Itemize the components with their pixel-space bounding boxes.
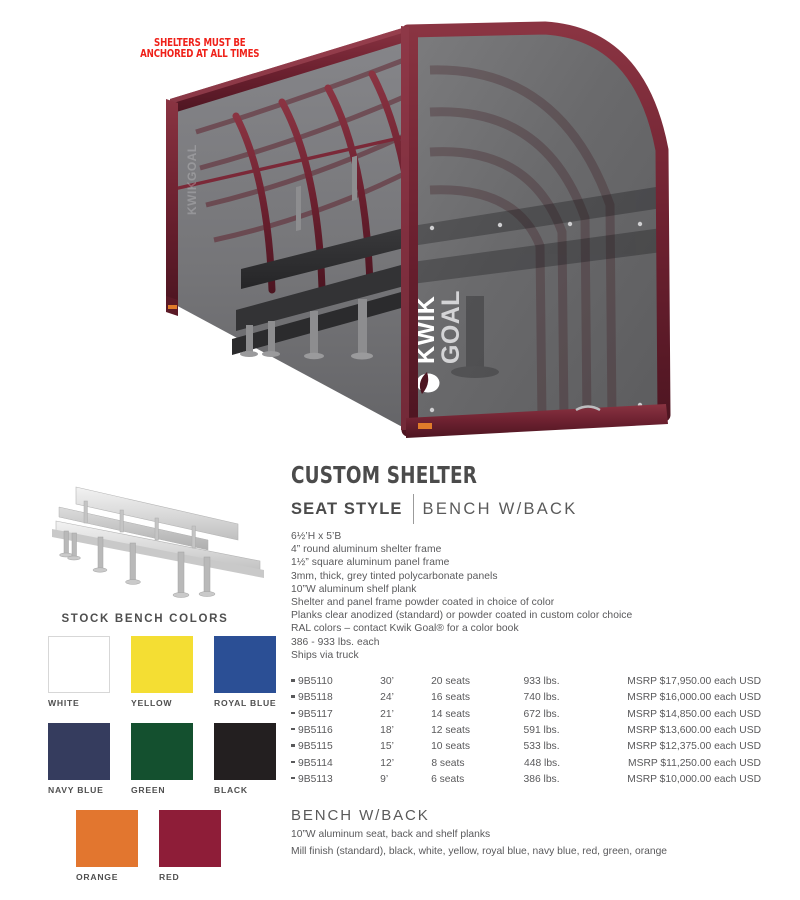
- spec-line: Ships via truck: [291, 649, 761, 662]
- cell-price: MSRP $10,000.00 each USD: [627, 774, 761, 785]
- shelter-side-panel: KWIK GOAL: [408, 28, 664, 430]
- cell-weight: 740 lbs.: [524, 692, 628, 703]
- product-variant-table: 9B5110 30’ 20 seats 933 lbs. MSRP $17,95…: [291, 676, 761, 790]
- cell-sku: 9B5110: [291, 676, 372, 687]
- cell-price: MSRP $11,250.00 each USD: [628, 758, 761, 769]
- seat-style-value: BENCH W/BACK: [423, 500, 578, 519]
- svg-text:KWIKGOAL: KWIKGOAL: [185, 144, 199, 215]
- swatch-row-2: NAVY BLUE GREEN BLACK: [48, 723, 276, 795]
- bullet-icon: [291, 695, 295, 698]
- swatch-label-white: WHITE: [48, 698, 110, 708]
- color-swatch-navy-blue[interactable]: NAVY BLUE: [48, 723, 110, 795]
- cell-sku: 9B5114: [291, 758, 372, 769]
- cell-seats: 8 seats: [431, 758, 524, 769]
- color-swatch-yellow[interactable]: YELLOW: [131, 636, 193, 708]
- cell-weight: 672 lbs.: [524, 709, 628, 720]
- swatch-label-navy-blue: NAVY BLUE: [48, 785, 110, 795]
- bullet-icon: [291, 777, 295, 780]
- swatch-chip-white: [48, 636, 110, 693]
- cell-sku: 9B5115: [291, 741, 372, 752]
- anchor-warning-text: SHELTERS MUST BE ANCHORED AT ALL TIMES: [128, 38, 272, 60]
- color-swatch-royal-blue[interactable]: ROYAL BLUE: [214, 636, 276, 708]
- swatch-label-green: GREEN: [131, 785, 193, 795]
- custom-shelter-illustration: KWIKGOAL: [0, 0, 800, 455]
- table-row[interactable]: 9B5110 30’ 20 seats 933 lbs. MSRP $17,95…: [291, 676, 761, 692]
- table-row[interactable]: 9B5114 12’ 8 seats 448 lbs. MSRP $11,250…: [291, 758, 761, 774]
- cell-length: 21’: [372, 709, 431, 720]
- cell-sku: 9B5116: [291, 725, 372, 736]
- seat-style-label: SEAT STYLE: [291, 500, 403, 519]
- cell-sku: 9B5113: [291, 774, 372, 785]
- cell-weight: 933 lbs.: [524, 676, 628, 687]
- seat-style-row: SEAT STYLE BENCH W/BACK: [291, 497, 761, 521]
- cell-price: MSRP $16,000.00 each USD: [627, 692, 761, 703]
- cell-weight: 386 lbs.: [524, 774, 628, 785]
- spec-line: 10”W aluminum shelf plank: [291, 583, 761, 596]
- cell-seats: 6 seats: [431, 774, 523, 785]
- bullet-icon: [291, 679, 295, 682]
- specification-list: 6½’H x 5’B 4” round aluminum shelter fra…: [291, 530, 761, 662]
- cell-sku: 9B5117: [291, 709, 372, 720]
- cell-price: MSRP $12,375.00 each USD: [627, 741, 761, 752]
- shelter-left-post: [166, 99, 178, 316]
- cell-length: 18’: [372, 725, 431, 736]
- bench-product-illustration: [32, 474, 282, 600]
- cell-length: 30’: [372, 676, 431, 687]
- table-row[interactable]: 9B5113 9’ 6 seats 386 lbs. MSRP $10,000.…: [291, 774, 761, 790]
- spec-line: 6½’H x 5’B: [291, 530, 761, 543]
- spec-line: RAL colors – contact Kwik Goal® for a co…: [291, 622, 761, 635]
- swatch-row-1: WHITE YELLOW ROYAL BLUE: [48, 636, 276, 708]
- swatch-chip-black: [214, 723, 276, 780]
- bullet-icon: [291, 744, 295, 747]
- page-title: CUSTOM SHELTER: [291, 463, 667, 489]
- color-swatch-red[interactable]: RED: [159, 810, 221, 882]
- cell-seats: 16 seats: [431, 692, 523, 703]
- spec-line: Planks clear anodized (standard) or powd…: [291, 609, 761, 622]
- cell-price: MSRP $14,850.00 each USD: [627, 709, 761, 720]
- bullet-icon: [291, 761, 295, 764]
- swatch-chip-red: [159, 810, 221, 867]
- seat-style-divider: [413, 494, 414, 524]
- cell-length: 9’: [372, 774, 431, 785]
- bench-options-line: Mill finish (standard), black, white, ye…: [291, 845, 691, 860]
- bench-options-title: BENCH W/BACK: [291, 807, 761, 824]
- swatch-chip-navy-blue: [48, 723, 110, 780]
- cell-seats: 14 seats: [431, 709, 523, 720]
- cell-seats: 10 seats: [431, 741, 523, 752]
- cell-weight: 533 lbs.: [524, 741, 628, 752]
- spec-line: Shelter and panel frame powder coated in…: [291, 596, 761, 609]
- cell-length: 24’: [372, 692, 431, 703]
- warning-sticker: [418, 423, 432, 429]
- cell-seats: 20 seats: [431, 676, 523, 687]
- spec-line: 4” round aluminum shelter frame: [291, 543, 761, 556]
- cell-sku: 9B5118: [291, 692, 372, 703]
- bullet-icon: [291, 712, 295, 715]
- color-swatch-black[interactable]: BLACK: [214, 723, 276, 795]
- product-details-column: CUSTOM SHELTER SEAT STYLE BENCH W/BACK 6…: [291, 463, 761, 859]
- table-row[interactable]: 9B5118 24’ 16 seats 740 lbs. MSRP $16,00…: [291, 692, 761, 708]
- shelter-hero-image: SHELTERS MUST BE ANCHORED AT ALL TIMES: [0, 0, 800, 455]
- svg-text:GOAL: GOAL: [437, 290, 465, 364]
- bullet-icon: [291, 728, 295, 731]
- stock-bench-colors-heading: STOCK BENCH COLORS: [0, 613, 290, 625]
- table-row[interactable]: 9B5117 21’ 14 seats 672 lbs. MSRP $14,85…: [291, 709, 761, 725]
- swatch-label-royal-blue: ROYAL BLUE: [214, 698, 276, 708]
- cell-weight: 591 lbs.: [524, 725, 628, 736]
- cell-length: 15’: [372, 741, 431, 752]
- cell-weight: 448 lbs.: [524, 758, 628, 769]
- color-swatch-green[interactable]: GREEN: [131, 723, 193, 795]
- color-swatch-orange[interactable]: ORANGE: [76, 810, 138, 882]
- cell-seats: 12 seats: [431, 725, 523, 736]
- swatch-chip-green: [131, 723, 193, 780]
- cell-price: MSRP $13,600.00 each USD: [627, 725, 761, 736]
- swatch-chip-orange: [76, 810, 138, 867]
- swatch-chip-royal-blue: [214, 636, 276, 693]
- cell-price: MSRP $17,950.00 each USD: [627, 676, 761, 687]
- bench-options-line: 10”W aluminum seat, back and shelf plank…: [291, 828, 691, 843]
- table-row[interactable]: 9B5115 15’ 10 seats 533 lbs. MSRP $12,37…: [291, 741, 761, 757]
- swatch-label-black: BLACK: [214, 785, 276, 795]
- table-row[interactable]: 9B5116 18’ 12 seats 591 lbs. MSRP $13,60…: [291, 725, 761, 741]
- swatch-label-red: RED: [159, 872, 221, 882]
- bench-options-block: BENCH W/BACK 10”W aluminum seat, back an…: [291, 807, 761, 859]
- spec-line: 386 - 933 lbs. each: [291, 636, 761, 649]
- swatch-label-orange: ORANGE: [76, 872, 138, 882]
- spec-line: 3mm, thick, grey tinted polycarbonate pa…: [291, 570, 761, 583]
- color-swatch-white[interactable]: WHITE: [48, 636, 110, 708]
- swatch-chip-yellow: [131, 636, 193, 693]
- cell-length: 12’: [372, 758, 431, 769]
- spec-line: 1½” square aluminum panel frame: [291, 556, 761, 569]
- swatch-row-3: ORANGE RED: [76, 810, 221, 882]
- swatch-label-yellow: YELLOW: [131, 698, 193, 708]
